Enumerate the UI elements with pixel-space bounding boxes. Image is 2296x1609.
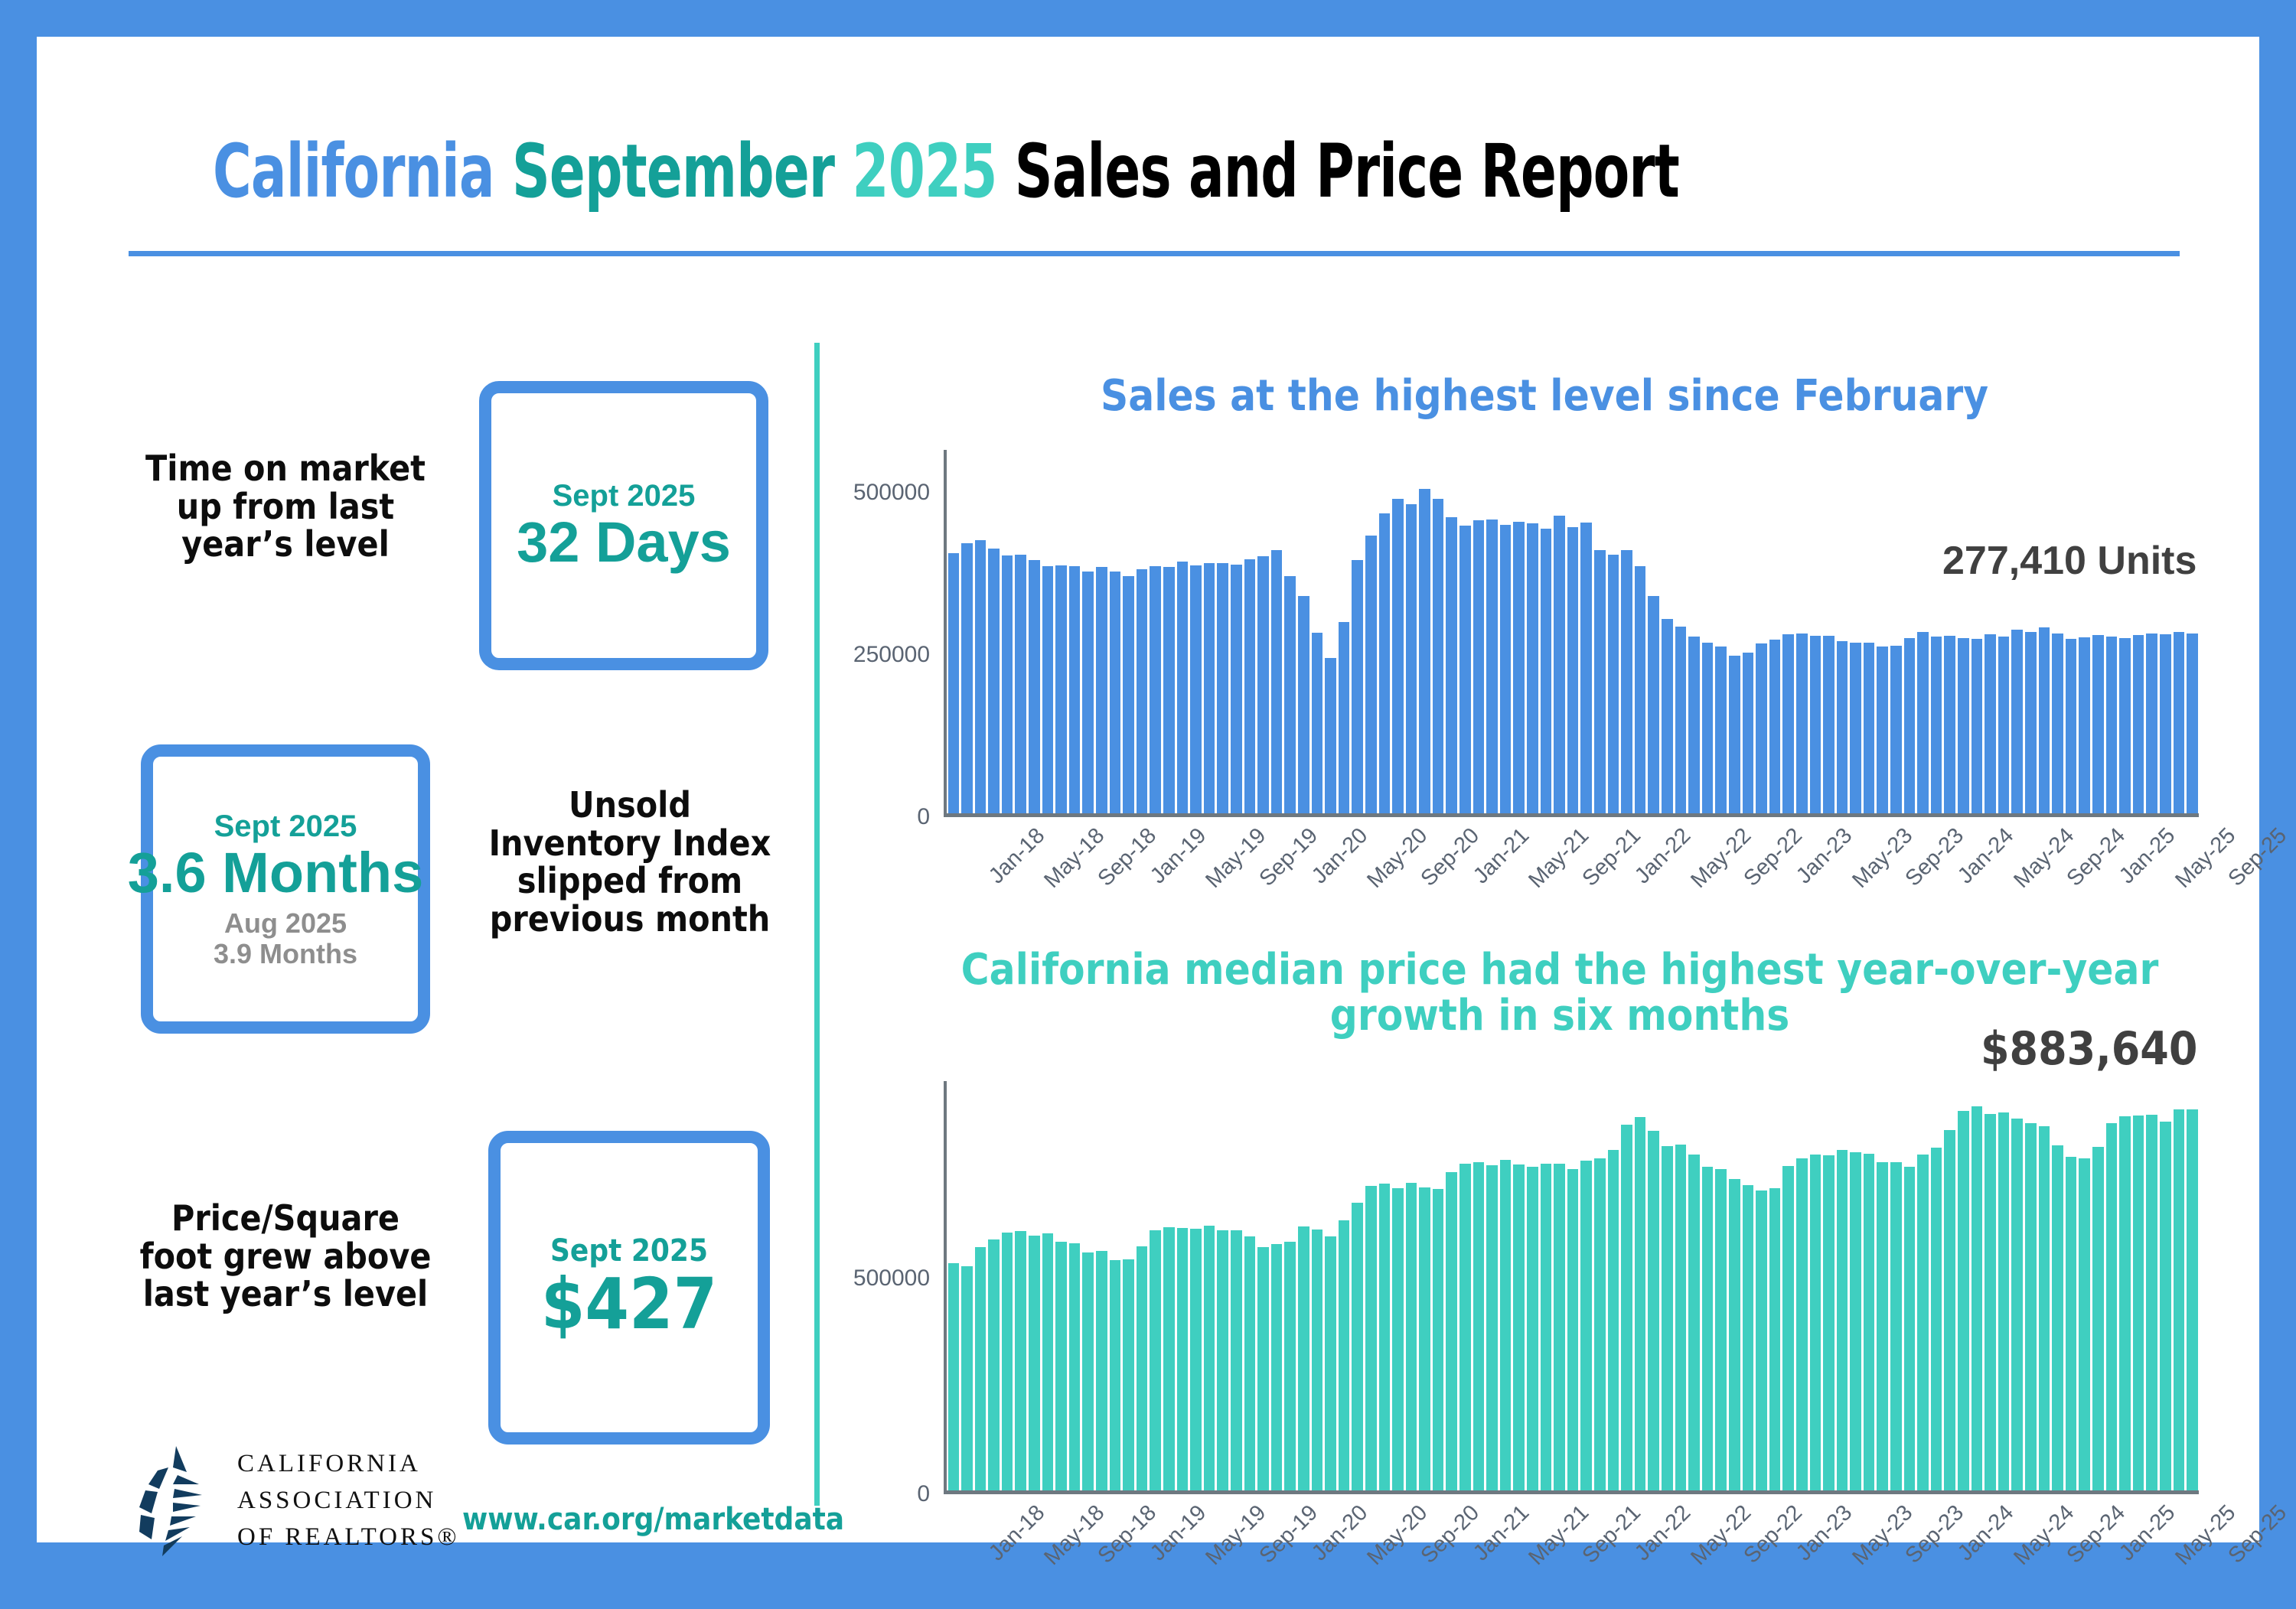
bar [1541, 1164, 1552, 1490]
price-callout-median: $883,640 [1981, 1022, 2197, 1076]
bar [1971, 1106, 1983, 1490]
bar [1042, 1233, 1054, 1490]
bar [1298, 596, 1309, 813]
bar [1810, 636, 1821, 813]
bar [1339, 1220, 1350, 1490]
x-tick-label: Jan-19 [1146, 823, 1212, 889]
bar [1217, 1230, 1228, 1490]
bar [1284, 576, 1296, 813]
bar [1069, 566, 1081, 813]
bar [1621, 550, 1632, 813]
x-tick-label: Jan-24 [1953, 1500, 2019, 1566]
bar [1312, 1230, 1323, 1490]
bar [1917, 1155, 1929, 1490]
bar [1675, 1145, 1687, 1490]
bar [1998, 1112, 2010, 1490]
x-tick-label: Jan-24 [1953, 823, 2019, 889]
bar [1782, 634, 1794, 813]
bar [1904, 1167, 1916, 1490]
bar [2025, 632, 2037, 814]
bar [1325, 1236, 1336, 1490]
bar [2146, 634, 2157, 813]
bar [1621, 1125, 1632, 1490]
bar [1419, 489, 1430, 813]
bar [1554, 516, 1565, 813]
stat-inventory-prev-value: 3.9 Months [214, 939, 357, 969]
bar [1096, 567, 1107, 813]
header: California September 2025 Sales and Pric… [37, 37, 2259, 266]
bar [1904, 638, 1916, 813]
bar [2146, 1115, 2157, 1490]
bar [1486, 520, 1498, 813]
bar [1459, 526, 1471, 813]
bar [1271, 1244, 1283, 1490]
bar [1110, 572, 1121, 813]
bar [2052, 634, 2063, 813]
bar [1204, 563, 1215, 813]
bar [1729, 1179, 1740, 1490]
x-tick-label: May-23 [1848, 1500, 1918, 1571]
bar [1702, 643, 1714, 813]
bar [988, 1239, 1000, 1490]
bar [1096, 1251, 1107, 1490]
bar [1339, 622, 1350, 813]
bar [1500, 525, 1512, 813]
vertical-divider [814, 343, 820, 1506]
bar [1392, 1188, 1404, 1490]
x-tick-label: May-18 [1039, 823, 1110, 894]
logo-line-association: ASSOCIATION [237, 1483, 459, 1519]
bar [1567, 527, 1579, 813]
x-tick-label: May-20 [1363, 1500, 1433, 1571]
bar [2133, 1116, 2144, 1490]
bar [1231, 565, 1242, 813]
y-tick-label: 500000 [853, 1265, 930, 1291]
bar [1406, 504, 1417, 813]
x-tick-label: Jan-21 [1469, 1500, 1534, 1566]
x-tick-label: May-19 [1202, 823, 1272, 894]
x-tick-label: Sep-20 [1416, 823, 1484, 891]
bar [1890, 646, 1902, 813]
bar [1433, 1189, 1444, 1490]
bar [1379, 1184, 1391, 1490]
bar [1029, 1236, 1040, 1490]
x-tick-label: May-21 [1525, 1500, 1595, 1571]
stat-box-days-on-market: Sept 2025 32 Days [479, 381, 768, 670]
bar [1298, 1226, 1309, 1490]
bar [2160, 1122, 2171, 1490]
bar [1850, 1152, 1861, 1490]
bar [1580, 1161, 1592, 1490]
bar [988, 549, 1000, 813]
bar [1419, 1187, 1430, 1490]
bar [2066, 1157, 2077, 1490]
bar [1743, 653, 1754, 813]
title-segment-report: Sales and Price Report [1015, 129, 1679, 214]
title-segment-month: September [512, 129, 852, 214]
bar [1446, 1172, 1457, 1490]
bar [1594, 1158, 1606, 1490]
bar [1217, 563, 1228, 813]
logo-line-of-realtors: OF REALTORS® [237, 1519, 459, 1556]
x-tick-label: Jan-25 [2115, 823, 2180, 889]
bar [1352, 560, 1363, 813]
bar [1123, 576, 1134, 813]
stat-inventory-prev-period: Aug 2025 [224, 908, 347, 939]
bar [1055, 565, 1067, 813]
bar [1608, 555, 1619, 813]
bar [2119, 638, 2131, 813]
x-tick-label: Jan-23 [1792, 1500, 1857, 1566]
bar [2106, 637, 2118, 813]
bar [2066, 639, 2077, 813]
x-tick-label: Jan-19 [1146, 1500, 1212, 1566]
bar [1150, 1230, 1161, 1490]
bar [2133, 635, 2144, 813]
bar [1782, 1166, 1794, 1490]
bar [1473, 520, 1485, 813]
x-tick-label: May-22 [1686, 823, 1756, 894]
bar [2079, 1158, 2090, 1490]
title-segment-year: 2025 [852, 129, 1014, 214]
bar [1688, 637, 1700, 813]
bar [1513, 1164, 1525, 1490]
bar [961, 1266, 973, 1490]
bar [1527, 1167, 1538, 1490]
bar [1850, 643, 1861, 813]
y-tick-label: 500000 [853, 480, 930, 506]
car-logo: CALIFORNIA ASSOCIATION OF REALTORS® [129, 1445, 459, 1558]
bar [1877, 647, 1888, 813]
x-tick-label: Sep-18 [1093, 1500, 1161, 1568]
x-tick-label: Jan-20 [1307, 823, 1373, 889]
bar [1137, 1246, 1148, 1490]
bar [1971, 639, 1983, 813]
bar [1756, 1190, 1767, 1490]
bar [1150, 566, 1161, 813]
bar [1567, 1169, 1579, 1490]
bar [1769, 640, 1781, 813]
bar [1002, 555, 1013, 813]
bar [2174, 632, 2185, 814]
stat-inventory-period: Sept 2025 [214, 809, 357, 843]
bar [1715, 1169, 1727, 1490]
x-tick-label: Jan-23 [1792, 823, 1857, 889]
bar [1002, 1233, 1013, 1490]
bar [1648, 1131, 1659, 1490]
bar [1998, 637, 2010, 813]
price-x-ticks: Jan-18May-18Sep-18Jan-19May-19Sep-19Jan-… [947, 1494, 2199, 1609]
stat-box-price-per-sqft: Sept 2025 $427 [488, 1131, 770, 1445]
bar [2119, 1116, 2131, 1490]
bar [1608, 1150, 1619, 1490]
x-tick-label: Jan-25 [2115, 1500, 2180, 1566]
bar [1163, 567, 1175, 813]
bar [1715, 647, 1727, 813]
x-tick-label: Sep-18 [1093, 823, 1161, 891]
x-tick-label: May-20 [1363, 823, 1433, 894]
sales-bar-chart: 0250000500000 Jan-18May-18Sep-18Jan-19Ma… [944, 450, 2199, 817]
bar [1958, 638, 1969, 813]
bar [1635, 1117, 1646, 1490]
bar [1379, 513, 1391, 813]
bar [948, 1263, 960, 1490]
bar [1406, 1183, 1417, 1490]
bar [1890, 1162, 1902, 1490]
title-segment-california: California [213, 129, 512, 214]
bar [1796, 1158, 1808, 1490]
bar [1944, 636, 1955, 813]
bar [1662, 1146, 1673, 1490]
note-unsold-inventory: Unsold Inventory Index slipped from prev… [481, 787, 779, 939]
bar [1837, 1150, 1848, 1490]
bar [1513, 522, 1525, 813]
bar [1082, 572, 1094, 813]
bar [1500, 1160, 1512, 1491]
bar [1688, 1155, 1700, 1490]
bar [2025, 1123, 2037, 1490]
sales-bars [947, 450, 2199, 813]
bar [1486, 1165, 1498, 1490]
bar [2187, 634, 2198, 813]
bar [1917, 632, 1929, 814]
stat-price-value: $427 [541, 1268, 717, 1342]
bar [2011, 1119, 2023, 1490]
bar [2187, 1109, 2198, 1490]
bar [1985, 634, 1996, 813]
bar [948, 553, 960, 813]
bar [1163, 1227, 1175, 1490]
bar [1473, 1162, 1485, 1490]
bar [2106, 1123, 2118, 1490]
x-tick-label: Jan-22 [1630, 1500, 1696, 1566]
bar [2174, 1109, 2185, 1490]
bar [1635, 566, 1646, 813]
bar [1796, 634, 1808, 813]
x-tick-label: Jan-18 [984, 823, 1050, 889]
x-tick-label: Sep-21 [1577, 1500, 1645, 1568]
bar [1944, 1130, 1955, 1490]
bar [1365, 536, 1377, 813]
bar [1204, 1226, 1215, 1490]
y-tick-label: 0 [917, 1481, 930, 1507]
bar [1069, 1243, 1081, 1490]
x-tick-label: May-21 [1525, 823, 1595, 894]
bar [2092, 635, 2104, 813]
x-tick-label: Sep-21 [1577, 823, 1645, 891]
bar [1042, 566, 1054, 813]
bar [1244, 1236, 1256, 1490]
sales-x-ticks: Jan-18May-18Sep-18Jan-19May-19Sep-19Jan-… [947, 817, 2199, 932]
bar [1823, 1155, 1835, 1490]
bar [1958, 1111, 1969, 1490]
bar [1137, 569, 1148, 813]
x-tick-label: May-25 [2170, 1500, 2241, 1571]
bar [1864, 1154, 1875, 1490]
stat-days-value: 32 Days [517, 513, 731, 572]
bar [1312, 633, 1323, 813]
car-logo-text: CALIFORNIA ASSOCIATION OF REALTORS® [237, 1446, 459, 1556]
bar [1702, 1167, 1714, 1490]
bar [1029, 560, 1040, 813]
bar [1177, 562, 1189, 813]
infographic-page: California September 2025 Sales and Pric… [37, 37, 2259, 1542]
note-price-per-sqft: Price/Square foot grew above last year’s… [136, 1200, 435, 1314]
x-tick-label: May-25 [2170, 823, 2241, 894]
y-tick-label: 0 [917, 804, 930, 830]
bar [1231, 1230, 1242, 1490]
bar [2039, 1126, 2050, 1490]
bar [1433, 499, 1444, 813]
x-tick-label: Jan-22 [1630, 823, 1696, 889]
x-tick-label: May-23 [1848, 823, 1918, 894]
bar [1365, 1186, 1377, 1490]
bar [1190, 1229, 1202, 1490]
bar [1527, 523, 1538, 813]
bar [2039, 627, 2050, 813]
bar [1580, 523, 1592, 813]
bar [1325, 658, 1336, 813]
x-tick-label: Jan-20 [1307, 1500, 1373, 1566]
x-tick-label: Sep-19 [1254, 823, 1322, 891]
bar [1756, 643, 1767, 813]
bar [2160, 634, 2171, 813]
car-logo-mark-icon [129, 1445, 220, 1558]
x-tick-label: May-24 [2009, 1500, 2079, 1571]
bar [2079, 637, 2090, 813]
bar [1554, 1164, 1565, 1490]
x-tick-label: May-19 [1202, 1500, 1272, 1571]
sales-chart-title: Sales at the highest level since Februar… [848, 373, 2241, 419]
bar [1985, 1114, 1996, 1490]
bar [1257, 1247, 1269, 1490]
stat-days-period: Sept 2025 [553, 479, 696, 513]
bar [1823, 636, 1835, 813]
bar [1446, 517, 1457, 813]
bar [1877, 1162, 1888, 1490]
bar [1110, 1260, 1121, 1490]
bar [1055, 1242, 1067, 1491]
x-tick-label: Sep-20 [1416, 1500, 1484, 1568]
bar [1082, 1252, 1094, 1490]
note-time-on-market: Time on market up from last year’s level [136, 450, 435, 564]
bar [1284, 1242, 1296, 1491]
bar [1541, 529, 1552, 813]
bar [1459, 1164, 1471, 1490]
bar [1931, 1148, 1942, 1490]
y-tick-label: 250000 [853, 642, 930, 668]
bar [1015, 1231, 1026, 1490]
bar [1271, 550, 1283, 813]
bar [2011, 630, 2023, 813]
bar [1675, 627, 1687, 813]
stat-inventory-value: 3.6 Months [115, 843, 436, 903]
x-tick-label: Jan-18 [984, 1500, 1050, 1566]
bar [2052, 1145, 2063, 1490]
bar [1257, 556, 1269, 813]
x-tick-label: Sep-19 [1254, 1500, 1322, 1568]
stat-box-unsold-inventory: Sept 2025 3.6 Months Aug 2025 3.9 Months [141, 744, 430, 1034]
bar [2092, 1147, 2104, 1490]
page-title: California September 2025 Sales and Pric… [213, 129, 1679, 214]
x-tick-label: Jan-21 [1469, 823, 1534, 889]
bar [961, 543, 973, 813]
x-tick-label: May-18 [1039, 1500, 1110, 1571]
bar [1015, 555, 1026, 813]
x-tick-label: May-22 [1686, 1500, 1756, 1571]
bar [1662, 619, 1673, 813]
bar [1177, 1228, 1189, 1490]
x-tick-label: May-24 [2009, 823, 2079, 894]
price-bar-chart: 0500000 Jan-18May-18Sep-18Jan-19May-19Se… [944, 1081, 2199, 1494]
bar [975, 540, 987, 813]
bar [1743, 1185, 1754, 1490]
bar [1648, 596, 1659, 813]
bar [1594, 550, 1606, 813]
bar [1810, 1155, 1821, 1490]
bar [1244, 559, 1256, 813]
bar [1769, 1188, 1781, 1490]
bar [1123, 1259, 1134, 1490]
bar [1864, 643, 1875, 813]
bar [1729, 656, 1740, 813]
bar [1931, 637, 1942, 813]
marketdata-url[interactable]: www.car.org/marketdata [462, 1502, 844, 1537]
header-divider-rule [129, 251, 2180, 256]
bar [1190, 565, 1202, 813]
bar [1837, 641, 1848, 813]
logo-line-california: CALIFORNIA [237, 1446, 459, 1483]
price-bars [947, 1081, 2199, 1490]
bar [975, 1247, 987, 1490]
bar [1392, 499, 1404, 813]
bar [1352, 1203, 1363, 1490]
